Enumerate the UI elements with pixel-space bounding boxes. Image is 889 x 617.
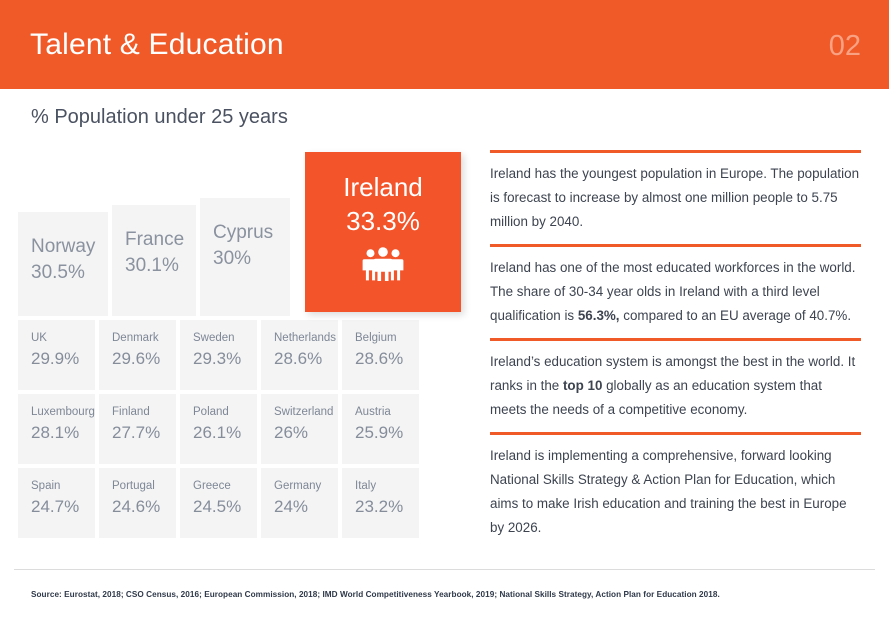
tile-country-name: Poland bbox=[193, 405, 247, 420]
facts-column: Ireland has the youngest population in E… bbox=[490, 150, 861, 550]
tile-luxembourg: Luxembourg 28.1% bbox=[18, 394, 95, 464]
tile-cyprus: Cyprus 30% bbox=[200, 198, 290, 316]
fact-divider-rule bbox=[490, 150, 861, 153]
page-header: Talent & Education 02 bbox=[0, 0, 889, 89]
tile-greece: Greece 24.5% bbox=[180, 468, 257, 538]
tile-country-value: 28.6% bbox=[274, 347, 328, 371]
tile-country-value: 23.2% bbox=[355, 495, 409, 519]
tile-finland: Finland 27.7% bbox=[99, 394, 176, 464]
tile-country-value: 24.6% bbox=[112, 495, 166, 519]
population-grid: Norway 30.5% France 30.1% Cyprus 30% Ire… bbox=[18, 150, 466, 550]
tile-france: France 30.1% bbox=[112, 205, 196, 316]
footer-divider bbox=[14, 569, 875, 570]
tile-country-value: 28.6% bbox=[355, 347, 409, 371]
tile-poland: Poland 26.1% bbox=[180, 394, 257, 464]
tile-country-value: 27.7% bbox=[112, 421, 166, 445]
fact-divider-rule bbox=[490, 432, 861, 435]
section-title: % Population under 25 years bbox=[31, 103, 288, 131]
page-number: 02 bbox=[829, 28, 861, 64]
tile-country-name: Cyprus bbox=[213, 220, 280, 246]
tile-country-value: 26% bbox=[274, 421, 328, 445]
tile-country-name: Spain bbox=[31, 479, 85, 494]
tile-switzerland: Switzerland 26% bbox=[261, 394, 338, 464]
tile-country-value: 25.9% bbox=[355, 421, 409, 445]
tile-country-name: France bbox=[125, 227, 186, 253]
tile-country-value: 24% bbox=[274, 495, 328, 519]
tile-italy: Italy 23.2% bbox=[342, 468, 419, 538]
fact-block-population: Ireland has the youngest population in E… bbox=[490, 150, 861, 234]
fact-block-skills-strategy: Ireland is implementing a comprehensive,… bbox=[490, 432, 861, 540]
people-group-icon bbox=[361, 247, 405, 281]
fact-text: Ireland’s education system is amongst th… bbox=[490, 350, 861, 422]
tile-country-name: Portugal bbox=[112, 479, 166, 494]
tile-denmark: Denmark 29.6% bbox=[99, 320, 176, 390]
tile-country-name: Denmark bbox=[112, 331, 166, 346]
tile-austria: Austria 25.9% bbox=[342, 394, 419, 464]
tile-country-value: 26.1% bbox=[193, 421, 247, 445]
fact-block-education-system: Ireland’s education system is amongst th… bbox=[490, 338, 861, 422]
tile-country-value: 29.6% bbox=[112, 347, 166, 371]
tile-netherlands: Netherlands 28.6% bbox=[261, 320, 338, 390]
tile-country-value: 24.7% bbox=[31, 495, 85, 519]
tile-country-name: Luxembourg bbox=[31, 405, 85, 420]
tile-country-value: 30% bbox=[213, 246, 280, 272]
tile-country-name: Netherlands bbox=[274, 331, 328, 346]
tile-country-name: Belgium bbox=[355, 331, 409, 346]
tile-norway: Norway 30.5% bbox=[18, 212, 108, 316]
tile-country-name: Switzerland bbox=[274, 405, 328, 420]
tile-belgium: Belgium 28.6% bbox=[342, 320, 419, 390]
ireland-country-name: Ireland bbox=[305, 170, 461, 204]
fact-text: Ireland has the youngest population in E… bbox=[490, 162, 861, 234]
fact-divider-rule bbox=[490, 244, 861, 247]
tile-uk: UK 29.9% bbox=[18, 320, 95, 390]
ireland-country-value: 33.3% bbox=[305, 204, 461, 238]
tile-country-value: 30.1% bbox=[125, 253, 186, 279]
tile-country-name: Norway bbox=[31, 234, 98, 260]
tile-portugal: Portugal 24.6% bbox=[99, 468, 176, 538]
tile-country-value: 24.5% bbox=[193, 495, 247, 519]
fact-divider-rule bbox=[490, 338, 861, 341]
tile-country-name: Sweden bbox=[193, 331, 247, 346]
tile-germany: Germany 24% bbox=[261, 468, 338, 538]
tile-country-name: UK bbox=[31, 331, 85, 346]
tile-sweden: Sweden 29.3% bbox=[180, 320, 257, 390]
fact-text: Ireland has one of the most educated wor… bbox=[490, 256, 861, 328]
fact-text: Ireland is implementing a comprehensive,… bbox=[490, 444, 861, 540]
tile-country-value: 30.5% bbox=[31, 260, 98, 286]
tile-country-value: 28.1% bbox=[31, 421, 85, 445]
tile-country-name: Greece bbox=[193, 479, 247, 494]
tile-ireland-highlight: Ireland 33.3% bbox=[305, 152, 461, 312]
tile-country-value: 29.9% bbox=[31, 347, 85, 371]
page-title: Talent & Education bbox=[30, 26, 284, 64]
tile-spain: Spain 24.7% bbox=[18, 468, 95, 538]
tile-country-name: Italy bbox=[355, 479, 409, 494]
tile-country-name: Germany bbox=[274, 479, 328, 494]
tile-country-value: 29.3% bbox=[193, 347, 247, 371]
tile-country-name: Finland bbox=[112, 405, 166, 420]
tile-country-name: Austria bbox=[355, 405, 409, 420]
footer-source-text: Source: Eurostat, 2018; CSO Census, 2016… bbox=[31, 589, 720, 601]
fact-block-workforce: Ireland has one of the most educated wor… bbox=[490, 244, 861, 328]
